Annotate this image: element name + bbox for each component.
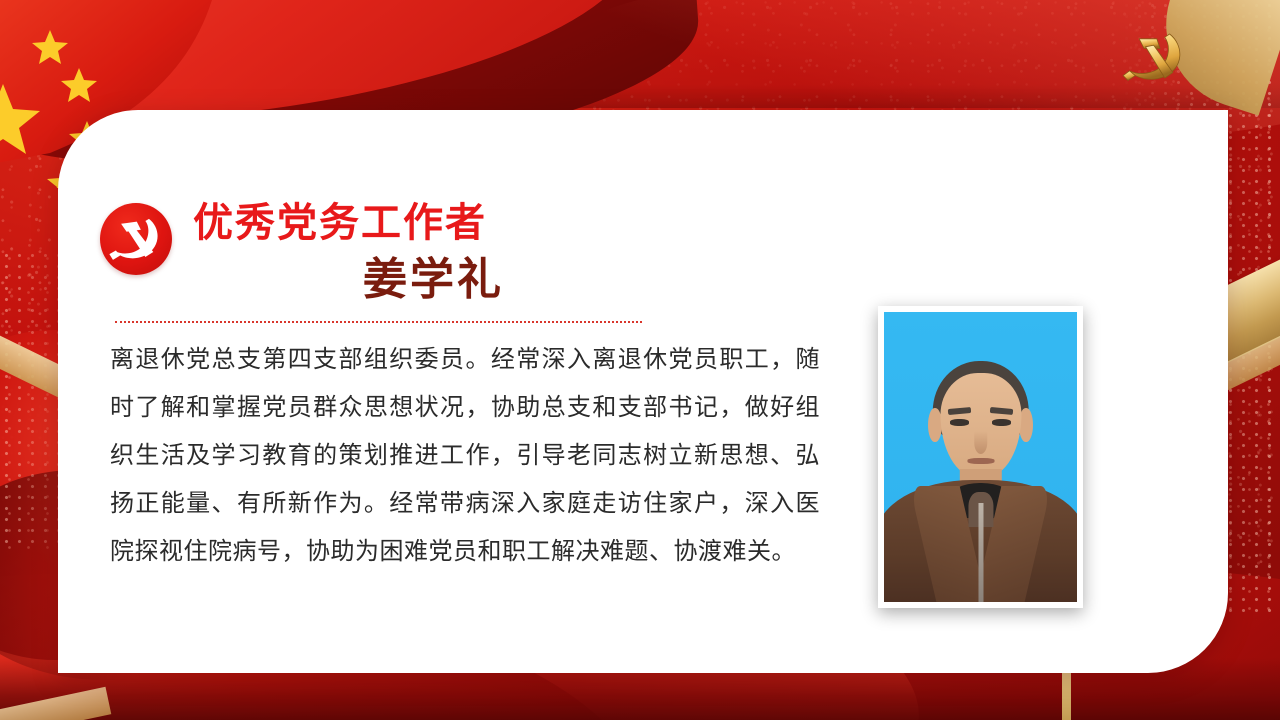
portrait-photo	[884, 312, 1077, 602]
portrait-photo-frame	[878, 306, 1083, 608]
page-title: 优秀党务工作者	[193, 203, 487, 243]
portrait-zipper	[978, 503, 983, 602]
portrait-eye-left	[950, 419, 969, 426]
slide-canvas: 优秀党务工作者 姜学礼 离退休党总支第四支部组织委员。经常深入离退休党员职工，随…	[0, 0, 1280, 720]
portrait-ear-right	[1019, 408, 1033, 443]
gold-hammer-sickle-icon	[1112, 26, 1192, 90]
party-emblem-hammer-sickle-icon	[100, 203, 172, 275]
description-paragraph: 离退休党总支第四支部组织委员。经常深入离退休党员职工，随时了解和掌握党员群众思想…	[110, 335, 820, 575]
portrait-nose	[974, 431, 988, 454]
portrait-mouth	[967, 458, 994, 463]
dotted-divider	[115, 321, 642, 323]
portrait-eye-right	[992, 419, 1011, 426]
person-name: 姜学礼	[363, 258, 504, 302]
content-card: 优秀党务工作者 姜学礼 离退休党总支第四支部组织委员。经常深入离退休党员职工，随…	[58, 110, 1228, 673]
